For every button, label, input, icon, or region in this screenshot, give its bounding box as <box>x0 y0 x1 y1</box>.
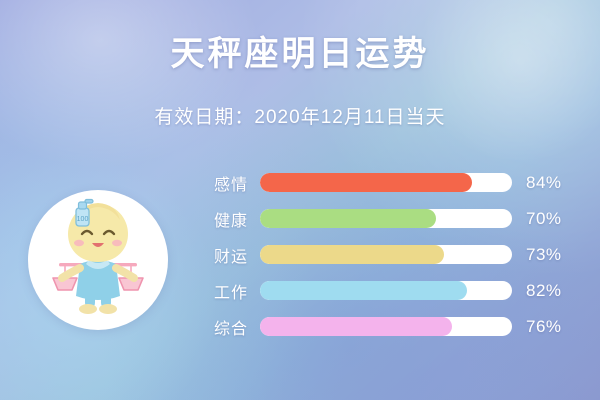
row-value-overall: 76% <box>512 317 588 337</box>
bar-fill-wealth <box>260 245 444 264</box>
row-label-wealth: 财运 <box>186 243 260 267</box>
row-value-work: 82% <box>512 281 588 301</box>
svg-text:100: 100 <box>77 216 89 223</box>
bar-fill-work <box>260 281 467 300</box>
row-label-health: 健康 <box>186 207 260 231</box>
row-value-health: 70% <box>512 209 588 229</box>
page-title: 天秤座明日运势 <box>0 26 600 75</box>
row-label-love: 感情 <box>186 171 260 195</box>
bar-fill-love <box>260 173 472 192</box>
bar-track-wealth <box>260 245 512 264</box>
fortune-bar-chart: 感情 84% 健康 70% 财运 73% 工作 82% <box>186 168 578 348</box>
background-glow-top-right <box>410 0 600 160</box>
row-value-love: 84% <box>512 173 588 193</box>
bar-fill-overall <box>260 317 452 336</box>
valid-date-text: 有效日期：2020年12月11日当天 <box>0 102 600 129</box>
row-label-overall: 综合 <box>186 315 260 339</box>
libra-mascot-icon: 100 <box>28 190 168 330</box>
avatar: 100 <box>28 190 168 330</box>
bar-track-work <box>260 281 512 300</box>
bar-track-love <box>260 173 512 192</box>
bar-track-health <box>260 209 512 228</box>
table-row: 财运 73% <box>186 240 578 269</box>
table-row: 感情 84% <box>186 168 578 197</box>
row-label-work: 工作 <box>186 279 260 303</box>
table-row: 工作 82% <box>186 276 578 305</box>
bar-track-overall <box>260 317 512 336</box>
fortune-card: 天秤座明日运势 有效日期：2020年12月11日当天 <box>0 0 600 400</box>
table-row: 综合 76% <box>186 312 578 341</box>
table-row: 健康 70% <box>186 204 578 233</box>
row-value-wealth: 73% <box>512 245 588 265</box>
bar-fill-health <box>260 209 436 228</box>
